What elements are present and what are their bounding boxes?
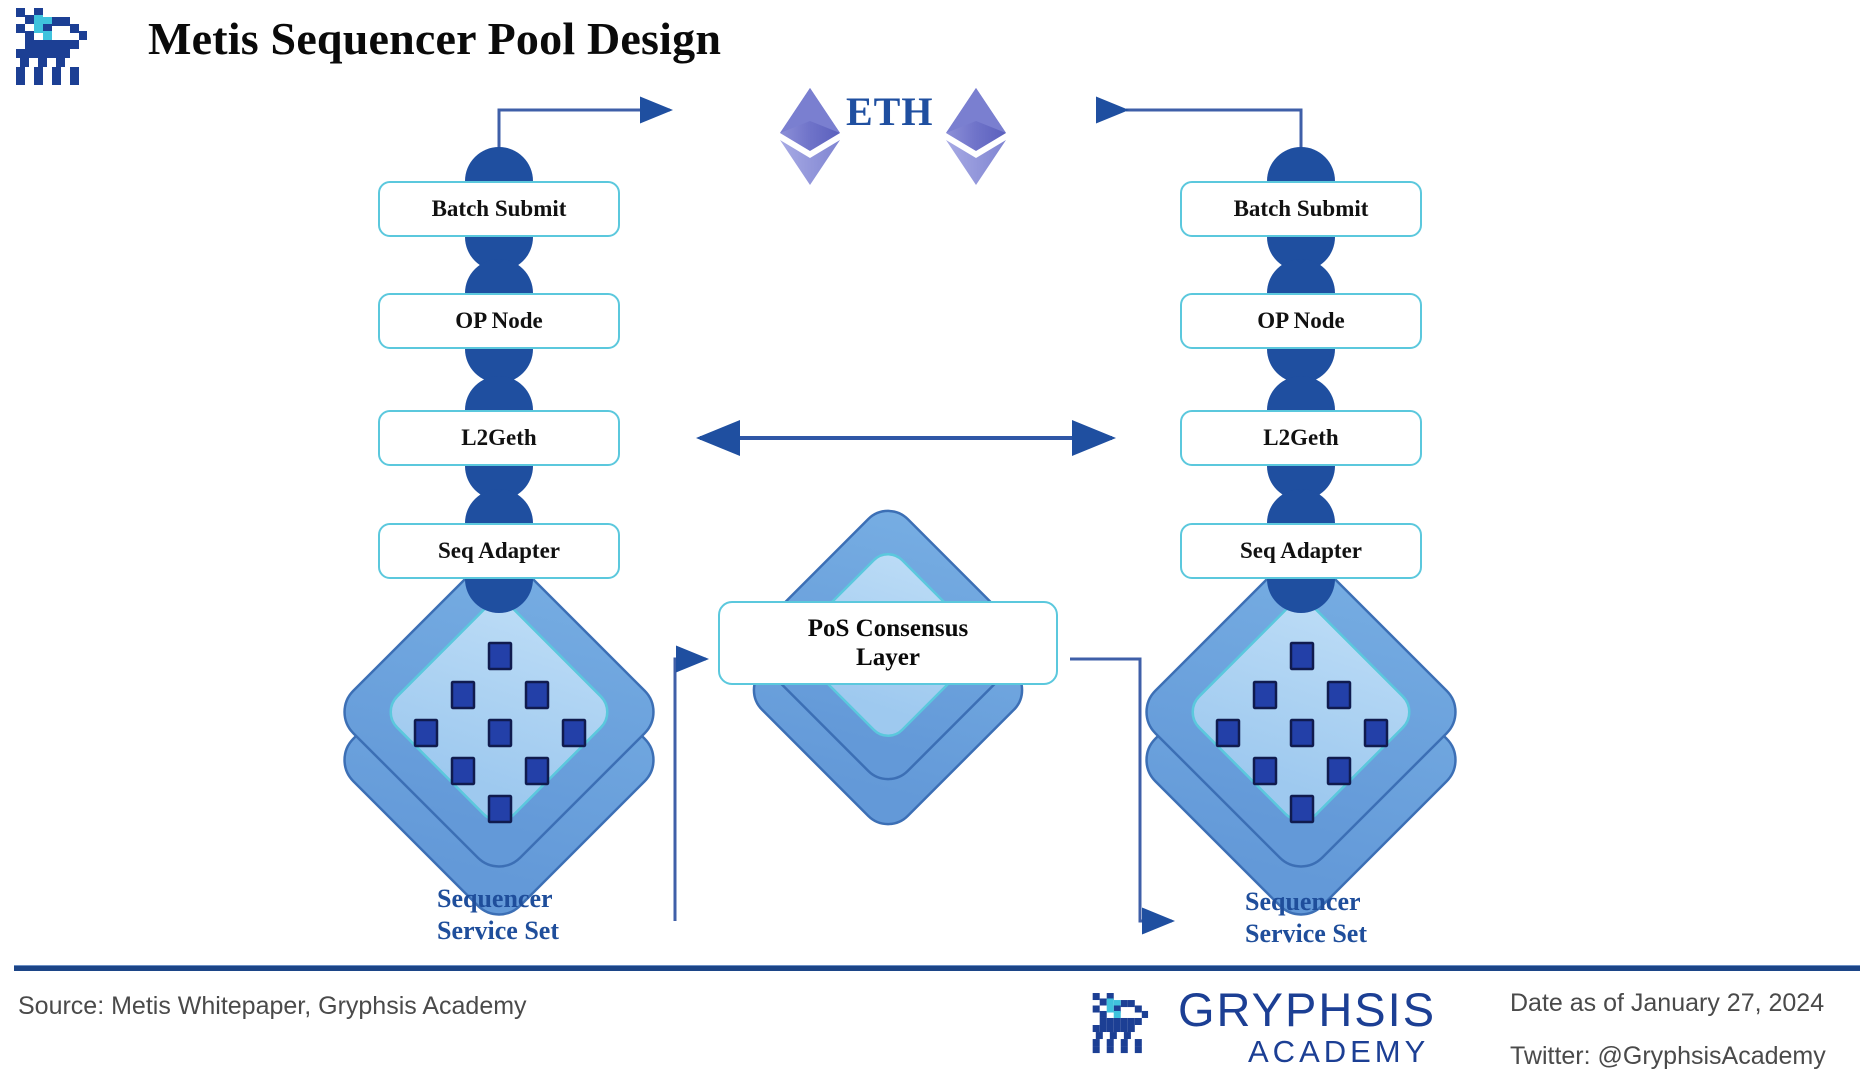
node-left-l2geth[interactable]: L2Geth: [378, 410, 620, 466]
node-pos-consensus-layer[interactable]: PoS Consensus Layer: [718, 601, 1058, 685]
caption-right-line2: Service Set: [1245, 918, 1367, 950]
brand-name: GRYPHSIS: [1178, 982, 1436, 1037]
caption-left-sequencer-service-set: Sequencer Service Set: [437, 883, 559, 946]
footer-divider: [14, 965, 1860, 971]
caption-left-line1: Sequencer: [437, 883, 559, 915]
pos-layer-line2: Layer: [808, 643, 968, 673]
node-right-batch-submit[interactable]: Batch Submit: [1180, 181, 1422, 237]
arrow-right-batch-submit-to-eth: [1126, 110, 1301, 155]
gryphsis-wordmark: GRYPHSIS ACADEMY: [1178, 982, 1438, 1068]
eth-label: ETH: [846, 88, 933, 135]
source-text: Source: Metis Whitepaper, Gryphsis Acade…: [18, 992, 527, 1021]
arrow-left-batch-submit-to-eth: [499, 110, 670, 155]
twitter-handle: Twitter: @GryphsisAcademy: [1510, 1042, 1826, 1071]
date-text: Date as of January 27, 2024: [1510, 989, 1824, 1018]
arrow-left-set-to-pos-layer: [675, 659, 706, 921]
node-left-seq-adapter[interactable]: Seq Adapter: [378, 523, 620, 579]
node-left-op-node[interactable]: OP Node: [378, 293, 620, 349]
node-right-l2geth[interactable]: L2Geth: [1180, 410, 1422, 466]
caption-right-line1: Sequencer: [1245, 886, 1367, 918]
ethereum-diamond-icon-right: [946, 88, 1006, 185]
gryphsis-griffin-logo-icon: [1088, 985, 1166, 1065]
footer: Source: Metis Whitepaper, Gryphsis Acade…: [0, 965, 1874, 1081]
node-right-seq-adapter[interactable]: Seq Adapter: [1180, 523, 1422, 579]
node-left-batch-submit[interactable]: Batch Submit: [378, 181, 620, 237]
ethereum-diamond-icon-left: [780, 88, 840, 185]
node-right-op-node[interactable]: OP Node: [1180, 293, 1422, 349]
diagram-vector-layer: [0, 0, 1874, 965]
brand-subtitle: ACADEMY: [1248, 1034, 1429, 1070]
caption-left-line2: Service Set: [437, 915, 559, 947]
caption-right-sequencer-service-set: Sequencer Service Set: [1245, 886, 1367, 949]
diagram-canvas: ETH Batch Submit OP Node L2Geth Seq Adap…: [0, 0, 1874, 965]
pos-layer-line1: PoS Consensus: [808, 614, 968, 644]
